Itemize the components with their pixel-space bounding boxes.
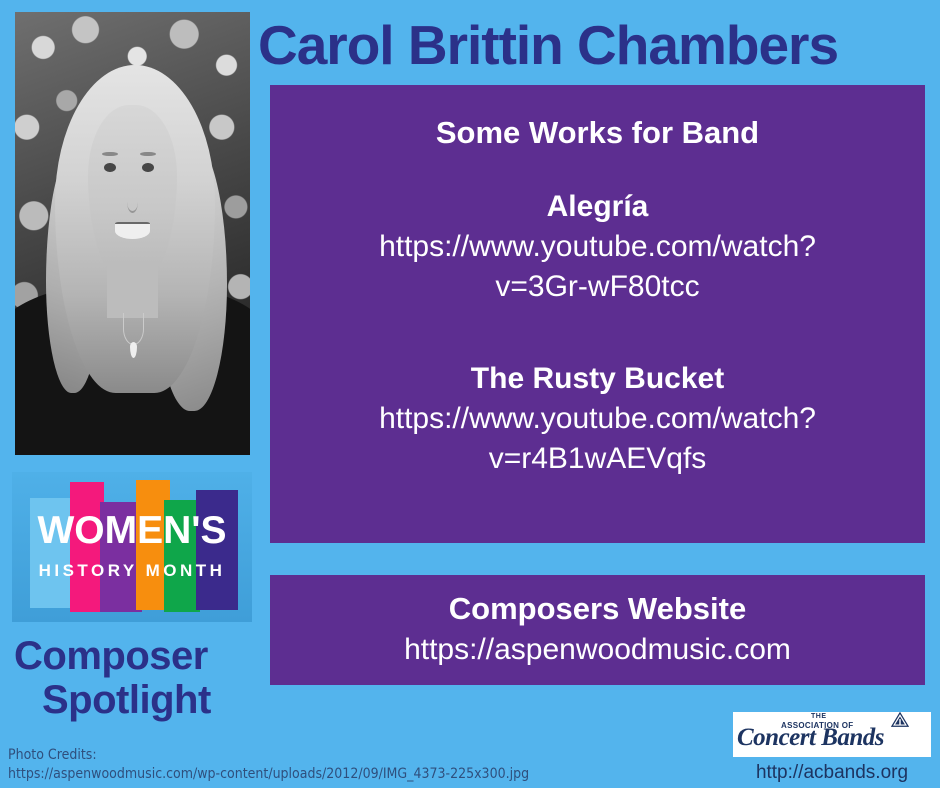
portrait-eye-left [104, 163, 116, 172]
acb-website-url[interactable]: http://acbands.org [733, 761, 931, 785]
spotlight-line-1: Composer [14, 634, 208, 678]
some-works-panel: Some Works for Band Alegría https://www.… [270, 85, 925, 543]
acb-triangle-emblem [891, 712, 909, 728]
acb-the-text: THE [811, 713, 827, 720]
whm-line-history-month: HISTORY MONTH [39, 558, 226, 584]
work-url-line-2[interactable]: v=3Gr-wF80tcc [270, 267, 925, 307]
whm-text: WOMEN'S HISTORY MONTH [12, 472, 252, 622]
composer-spotlight-label: Composer Spotlight [14, 634, 274, 722]
work-url-line-1[interactable]: https://www.youtube.com/watch? [270, 399, 925, 439]
portrait-neck [107, 265, 159, 318]
portrait-necklace [123, 313, 144, 345]
work-item-the-rusty-bucket: The Rusty Bucket https://www.youtube.com… [270, 359, 925, 479]
page-title: Carol Brittin Chambers [258, 14, 930, 76]
composers-website-panel: Composers Website https://aspenwoodmusic… [270, 575, 925, 685]
photo-credits-label: Photo Credits: [8, 747, 97, 763]
work-item-alegria: Alegría https://www.youtube.com/watch? v… [270, 187, 925, 307]
spotlight-line-2: Spotlight [14, 678, 274, 722]
work-title: Alegría [270, 187, 925, 227]
photo-credits-url[interactable]: https://aspenwoodmusic.com/wp-content/up… [8, 765, 628, 784]
whm-line-womens: WOMEN'S [37, 510, 226, 552]
portrait-smile [115, 222, 150, 238]
composer-portrait-photo [15, 12, 250, 455]
acb-concert-bands-text: Concert Bands [737, 724, 927, 751]
website-panel-heading: Composers Website [270, 589, 925, 629]
portrait-artwork [15, 12, 250, 455]
works-panel-heading: Some Works for Band [270, 113, 925, 153]
photo-credits: Photo Credits: https://aspenwoodmusic.co… [8, 746, 628, 784]
portrait-eye-right [142, 163, 154, 172]
composer-spotlight-poster: Carol Brittin Chambers Some Works for Ba… [0, 0, 940, 788]
work-url-line-1[interactable]: https://www.youtube.com/watch? [270, 227, 925, 267]
acb-logo-box: THE ASSOCIATION OF Concert Bands [733, 712, 931, 757]
work-title: The Rusty Bucket [270, 359, 925, 399]
composer-website-url[interactable]: https://aspenwoodmusic.com [270, 629, 925, 671]
womens-history-month-logo: WOMEN'S HISTORY MONTH [12, 472, 252, 622]
work-url-line-2[interactable]: v=r4B1wAEVqfs [270, 439, 925, 479]
association-of-concert-bands-logo: THE ASSOCIATION OF Concert Bands http://… [733, 712, 931, 785]
